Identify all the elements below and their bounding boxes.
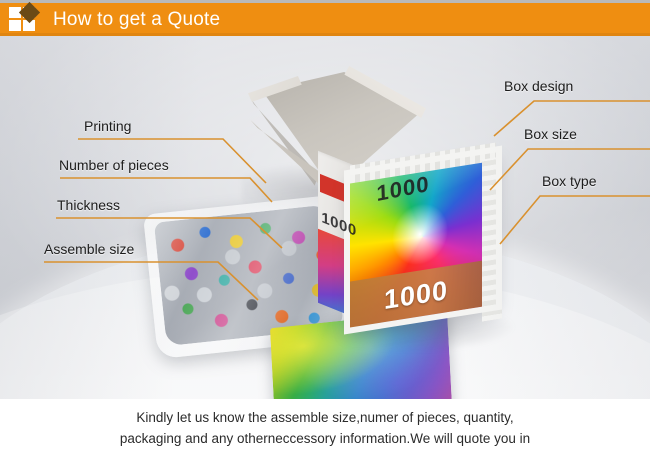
callout-label-number-of-pieces: Number of pieces [59,157,169,173]
callout-label-printing: Printing [84,118,131,134]
header-bar: How to get a Quote [0,3,650,36]
logo-square-bottom-left [9,20,21,31]
caption-line-2: packaging and any otherneccessory inform… [0,428,650,449]
callout-label-box-design: Box design [504,78,573,94]
diamond-squares-logo-icon [9,7,39,33]
callout-label-assemble-size: Assemble size [44,241,134,257]
quote-info-banner: How to get a Quote [0,0,650,451]
callout-label-box-type: Box type [542,173,596,189]
page-title: How to get a Quote [53,10,220,29]
callout-label-box-size: Box size [524,126,577,142]
callout-label-thickness: Thickness [57,197,120,213]
caption-block: Kindly let us know the assemble size,num… [0,399,650,451]
caption-line-1: Kindly let us know the assemble size,num… [0,407,650,428]
